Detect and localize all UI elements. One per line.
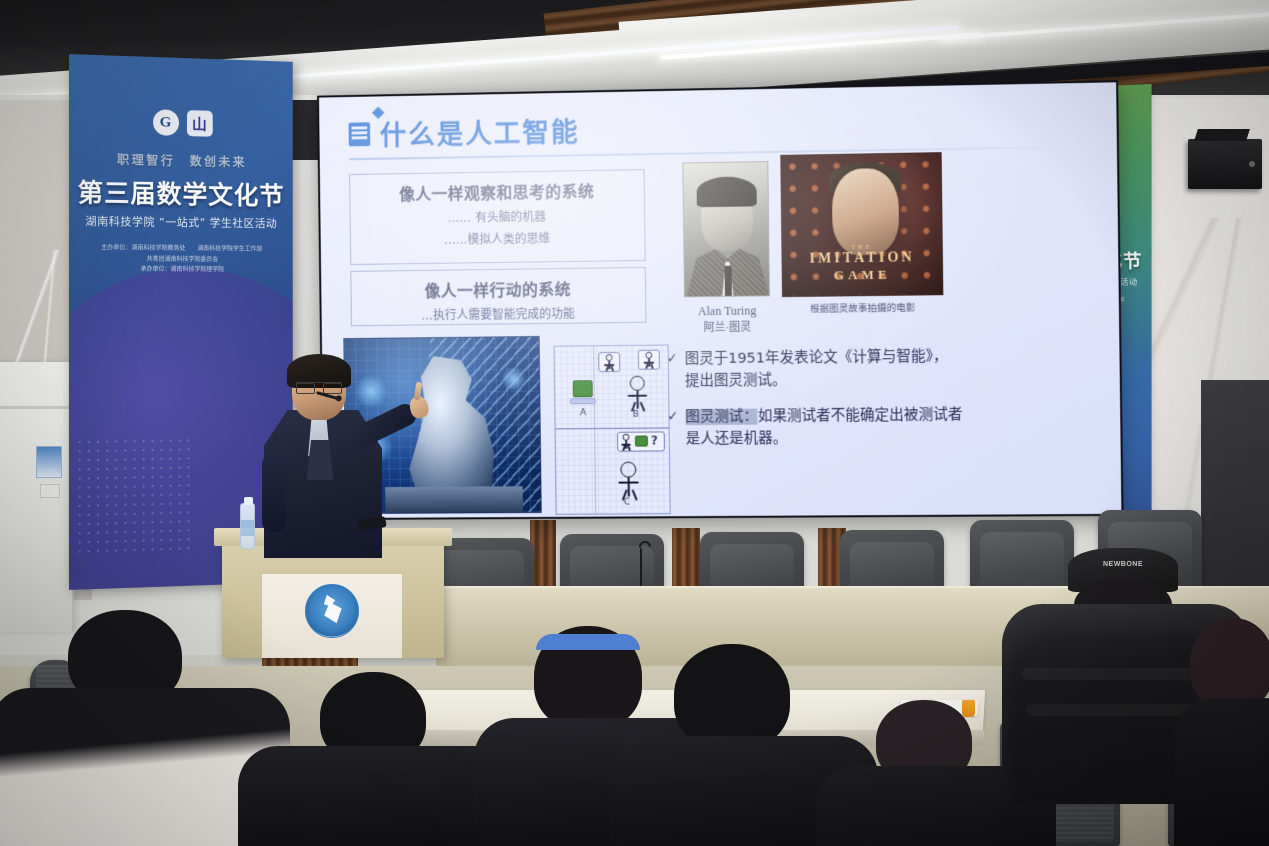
person-glyph-icon: [620, 434, 632, 450]
poster-actor-face: [832, 168, 900, 255]
projection-screen: 什么是人工智能 像人一样观察和思考的系统 …… 有头脑的机器 ……模拟人类的思维…: [317, 80, 1124, 520]
statement-box-act: 像人一样行动的系统 …执行人需要智能完成的功能: [350, 267, 646, 326]
bullet-line-1: 图灵于1951年发表论文《计算与智能》，: [685, 349, 948, 368]
statement-box-observe: 像人一样观察和思考的系统 …… 有头脑的机器 ……模拟人类的思维: [349, 169, 646, 265]
speaker-indicator: [1249, 161, 1255, 167]
slide-bullet-list: ✓ 图灵于1951年发表论文《计算与智能》， 提出图灵测试。 ✓ 图灵测试：如果…: [667, 344, 1103, 464]
audience-person-5: [830, 700, 1030, 846]
poster-title-block: THE IMITATION GAME: [782, 244, 942, 284]
document-icon: [349, 122, 371, 146]
headband: [536, 634, 640, 650]
wall-mounted-speaker: [1188, 139, 1262, 189]
check-icon: ✓: [667, 406, 678, 451]
bullet-line-1: 如果测试者不能确定出被测试者: [758, 407, 963, 425]
computer-screen-icon: [573, 380, 593, 397]
bullet-item: ✓ 图灵于1951年发表论文《计算与智能》， 提出图灵测试。: [667, 344, 1102, 394]
ac-energy-label: [36, 446, 62, 478]
circuit-node-icon: [501, 367, 525, 391]
diagram-label-a: A: [580, 408, 586, 418]
banner-left-title: 第三届数学文化节: [69, 173, 293, 213]
turing-caption: Alan Turing 阿兰·图灵: [662, 301, 792, 337]
turing-caption-en: Alan Turing: [662, 301, 792, 321]
presentation-slide: 什么是人工智能 像人一样观察和思考的系统 …… 有头脑的机器 ……模拟人类的思维…: [319, 82, 1121, 518]
computer-screen-icon: [635, 436, 648, 447]
person-glyph-icon: [642, 352, 656, 368]
turing-test-diagram: A B ?: [554, 345, 671, 515]
diagram-divider: [556, 428, 669, 430]
audience-person-7: [1180, 618, 1269, 846]
statement-line: …执行人需要智能完成的功能: [352, 304, 646, 324]
festival-logo-icon: 山: [186, 110, 212, 137]
bullet-line-2: 是人还是机器。: [686, 431, 788, 448]
ac-barcode-label: [40, 484, 60, 498]
table-microphone: [640, 548, 642, 590]
presenter: [258, 358, 418, 558]
bullet-highlighted-term: 图灵测试：: [685, 409, 758, 426]
audience-head: [1190, 618, 1269, 710]
statement-line: ……模拟人类的思维: [351, 228, 645, 249]
banner-left-org-line-3: 承办单位：湖南科技学院理学院: [69, 264, 293, 276]
person-glyph-icon: [602, 354, 616, 370]
computer-base-icon: [570, 398, 596, 404]
bullet-text: 图灵测试：如果测试者不能确定出被测试者 是人还是机器。: [685, 404, 963, 451]
university-logo-icon: G: [153, 109, 179, 136]
glasses-icon: [296, 382, 342, 391]
ac-seam: [0, 406, 72, 409]
bullet-line-2: 提出图灵测试。: [685, 373, 787, 390]
diagram-question-mark: ?: [651, 433, 658, 447]
audience-jacket: [1174, 698, 1269, 846]
banner-left-logos: G 山: [69, 107, 293, 139]
banner-left-subtitle: 湖南科技学院 “一站式” 学生社区活动: [69, 212, 293, 231]
statement-heading: 像人一样行动的系统: [351, 275, 645, 303]
banner-left-slogan: 职理智行 数创未来: [69, 149, 293, 171]
bullet-item: ✓ 图灵测试：如果测试者不能确定出被测试者 是人还是机器。: [667, 403, 1102, 452]
banner-left-dot-pattern: [75, 436, 196, 560]
turing-tie: [725, 266, 732, 296]
diagram-label-c: C: [624, 498, 630, 508]
presenter-right-arm: [343, 401, 419, 453]
turing-hair: [696, 176, 756, 207]
person-b-glyph-icon: [624, 376, 650, 410]
banner-left-org-line-1: 主办单位：湖南科技学院教务处 湖南科技学院学生工作部: [69, 243, 293, 256]
slide-title: 什么是人工智能: [380, 111, 580, 153]
diagram-label-b: B: [633, 410, 639, 420]
imitation-game-poster: THE IMITATION GAME: [780, 152, 943, 297]
movie-caption: 根据图灵故事拍摄的电影: [782, 301, 944, 317]
banner-left-organizers: 主办单位：湖南科技学院教务处 湖南科技学院学生工作部 共青团湖南科技学院委员会 …: [69, 243, 293, 276]
person-c-glyph-icon: [615, 462, 641, 498]
audience-person-2: [258, 672, 498, 846]
diagram-vertical-divider: [593, 346, 596, 513]
poster-title-line-3: GAME: [783, 266, 943, 284]
bottle-label: [241, 520, 254, 536]
speaker-bracket: [1194, 129, 1250, 141]
air-conditioner-unit: [0, 362, 74, 632]
presenter-left-arm: [262, 454, 286, 532]
check-icon: ✓: [667, 348, 678, 393]
cap-text: NEWBONE: [1068, 561, 1178, 568]
lecture-hall-scene: G 山 职理智行 数创未来 第三届数学文化节 湖南科技学院 “一站式” 学生社区…: [0, 0, 1269, 846]
statement-heading: 像人一样观察和思考的系统: [350, 177, 644, 206]
slide-title-row: 什么是人工智能: [348, 111, 579, 154]
bullet-text: 图灵于1951年发表论文《计算与智能》， 提出图灵测试。: [685, 345, 949, 393]
audience-head: [674, 644, 790, 750]
water-bottle: [240, 503, 255, 549]
statement-line: …… 有头脑的机器: [351, 206, 645, 227]
presentation-clicker: [357, 516, 386, 531]
alan-turing-portrait: [682, 161, 770, 297]
turing-caption-zh: 阿兰·图灵: [662, 319, 792, 337]
